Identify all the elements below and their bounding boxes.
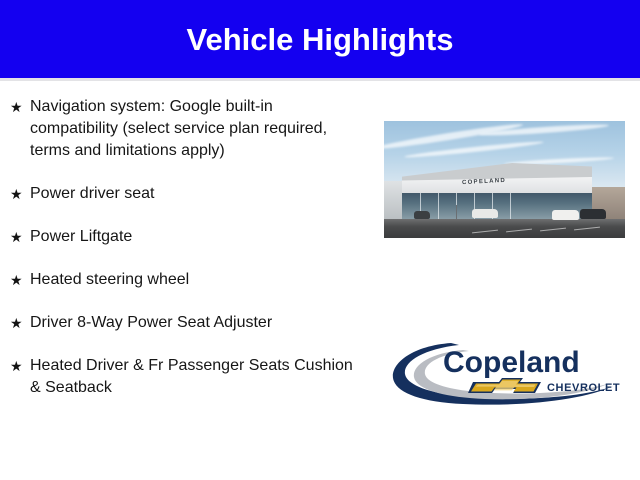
parked-car [580,209,606,219]
glass-mullion [510,191,511,221]
parked-car [472,209,498,218]
highlight-text: Power Liftgate [30,226,360,248]
list-item: ★ Power driver seat [8,183,360,205]
logo-graphic: Copeland CHEVROLET [389,338,621,408]
slide-header-banner: Vehicle Highlights [0,0,640,78]
star-bullet-icon: ★ [8,355,30,377]
star-bullet-icon: ★ [8,96,30,118]
header-divider [0,78,640,81]
highlight-text: Heated Driver & Fr Passenger Seats Cushi… [30,355,360,399]
parked-car [552,210,579,220]
copeland-chevrolet-logo: Copeland CHEVROLET [389,338,621,408]
list-item: ★ Power Liftgate [8,226,360,248]
highlight-text: Power driver seat [30,183,360,205]
highlight-text: Driver 8-Way Power Seat Adjuster [30,312,360,334]
list-item: ★ Navigation system: Google built-in com… [8,96,360,162]
chevrolet-bowtie-icon [468,378,541,393]
glass-mullion [438,191,439,221]
highlight-text: Navigation system: Google built-in compa… [30,96,360,162]
star-bullet-icon: ★ [8,312,30,334]
highlight-text: Heated steering wheel [30,269,360,291]
list-item: ★ Driver 8-Way Power Seat Adjuster [8,312,360,334]
list-item: ★ Heated steering wheel [8,269,360,291]
list-item: ★ Heated Driver & Fr Passenger Seats Cus… [8,355,360,399]
dealership-photo: COPELAND [384,121,625,238]
dealership-left-wall [384,181,404,221]
vehicle-highlights-list: ★ Navigation system: Google built-in com… [8,96,360,420]
star-bullet-icon: ★ [8,183,30,205]
logo-wordmark: Copeland [443,346,580,379]
star-bullet-icon: ★ [8,226,30,248]
page-title: Vehicle Highlights [187,24,454,55]
parked-car [414,211,430,219]
star-bullet-icon: ★ [8,269,30,291]
logo-brand-text: CHEVROLET [547,382,620,394]
